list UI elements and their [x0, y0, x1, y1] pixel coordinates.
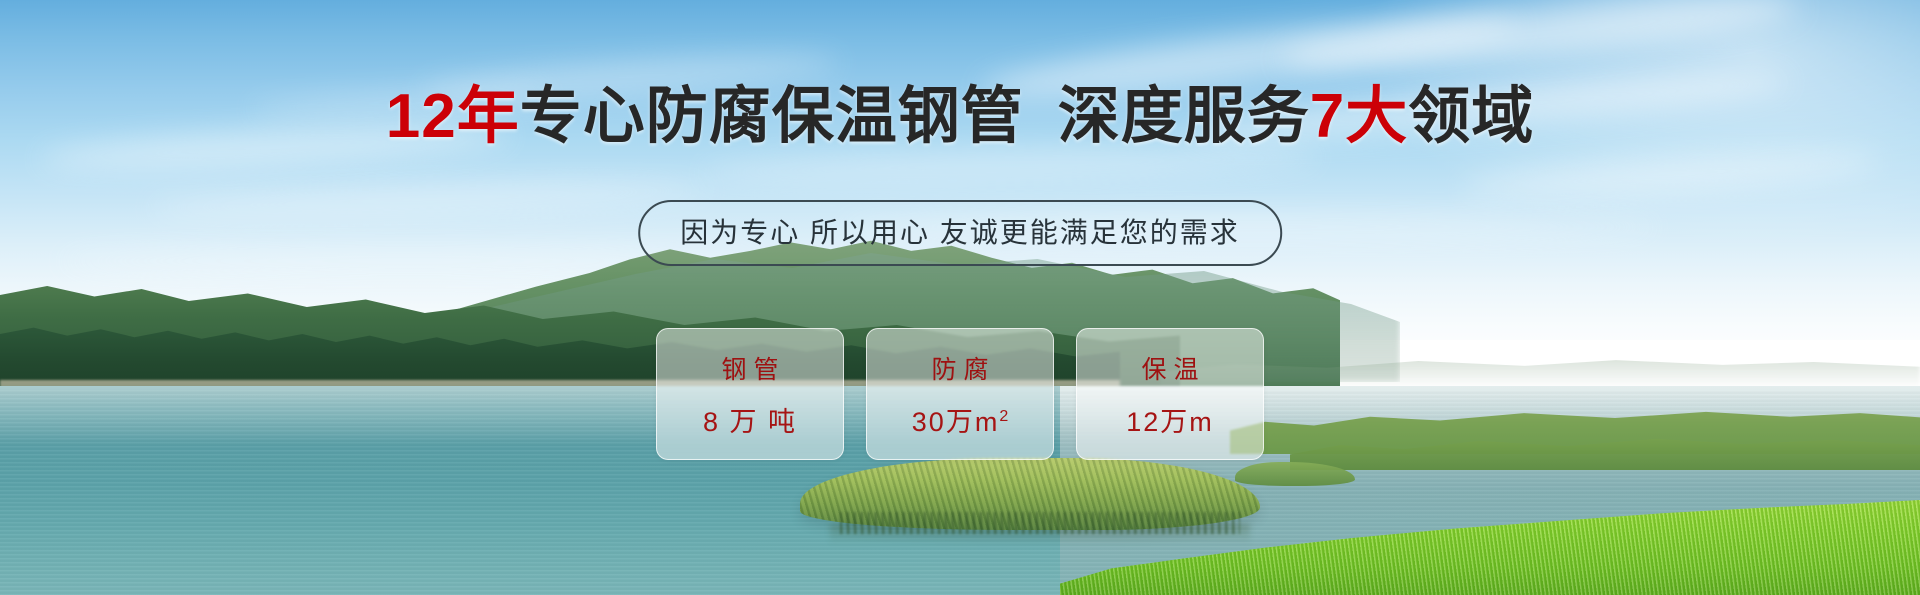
stat-card-label: 保温 [1134, 350, 1205, 386]
banner-headline: 12年专心防腐保温钢管深度服务7大领域 [0, 84, 1920, 149]
stat-card-insulation[interactable]: 保温 12万m [1076, 328, 1264, 460]
stat-card-value: 30万m2 [912, 400, 1008, 439]
headline-fields: 领域 [1408, 82, 1534, 151]
grass-island-fringe [840, 512, 1240, 534]
stat-card-value: 8 万 吨 [703, 400, 797, 439]
stat-card-group: 钢管 8 万 吨 防腐 30万m2 保温 12万m [656, 328, 1264, 460]
stat-value-text: 8 万 吨 [703, 407, 797, 437]
stat-card-steel-pipe[interactable]: 钢管 8 万 吨 [656, 328, 844, 460]
headline-years: 12年 [386, 82, 520, 151]
headline-service: 深度服务 [1058, 82, 1310, 151]
headline-main: 专心防腐保温钢管 [520, 82, 1024, 151]
stat-card-label: 防腐 [924, 350, 995, 386]
stat-card-label: 钢管 [714, 350, 785, 386]
stat-value-text: 12万m [1126, 407, 1214, 437]
stat-card-anticorrosion[interactable]: 防腐 30万m2 [866, 328, 1054, 460]
stat-card-value: 12万m [1126, 400, 1214, 439]
banner-subtitle: 因为专心 所以用心 友诚更能满足您的需求 [638, 200, 1282, 266]
stat-value-exponent: 2 [999, 408, 1008, 425]
headline-seven: 7大 [1310, 82, 1408, 151]
promo-banner: 12年专心防腐保温钢管深度服务7大领域 因为专心 所以用心 友诚更能满足您的需求… [0, 0, 1920, 595]
stat-value-text: 30万m [912, 407, 1000, 437]
